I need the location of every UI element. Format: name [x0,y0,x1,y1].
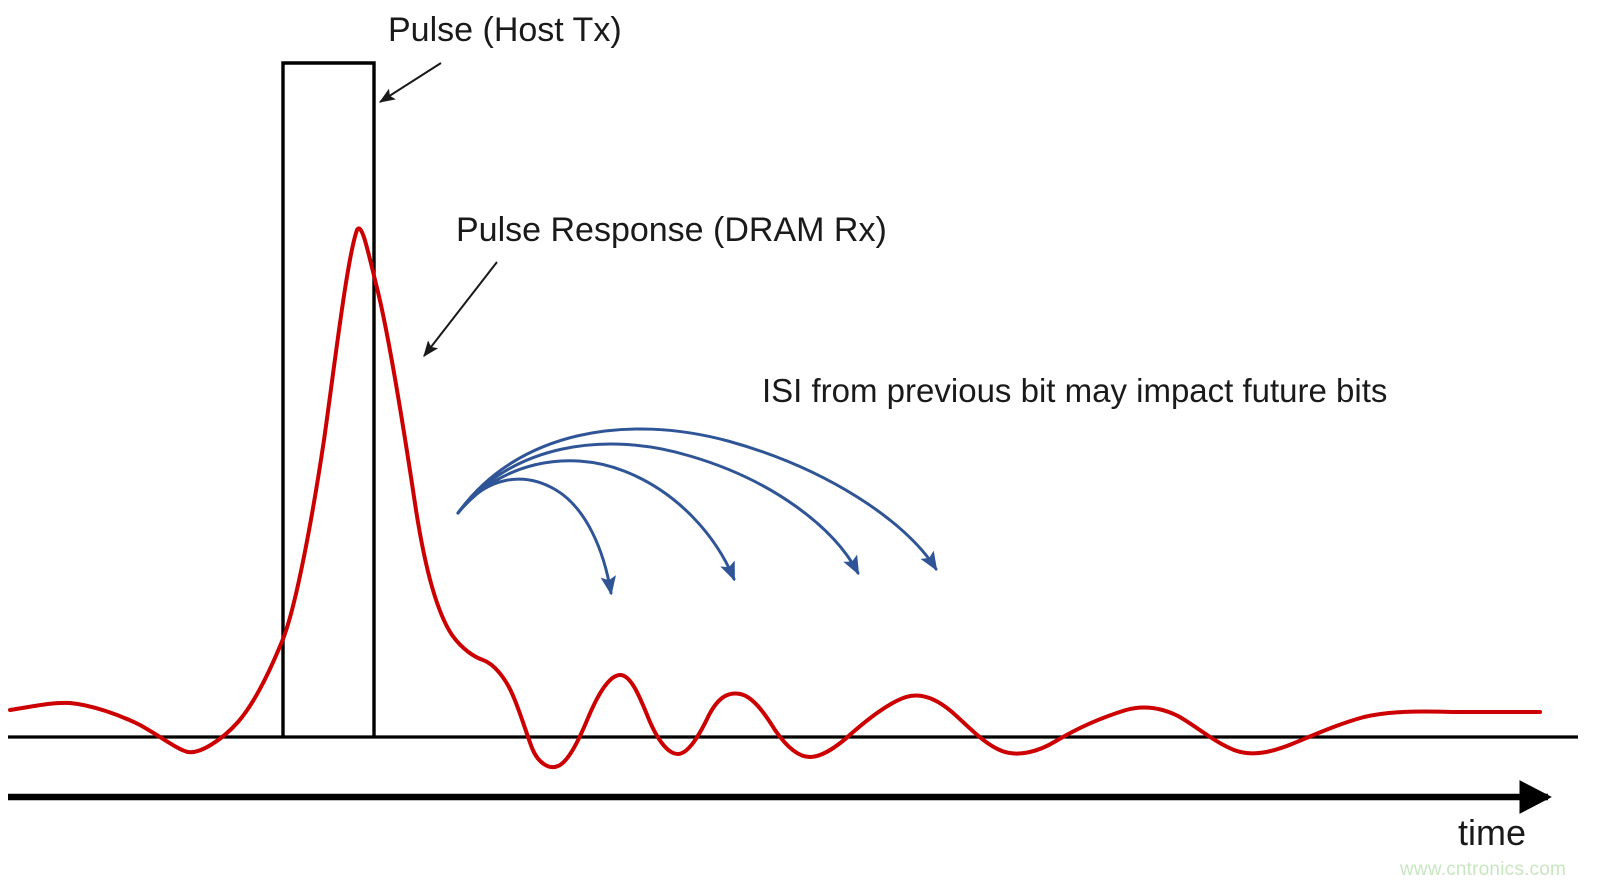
isi-arc-1 [458,479,611,593]
dram-rx-pulse-response-curve [10,228,1540,767]
time-axis-label: time [1458,813,1526,853]
isi-note-label: ISI from previous bit may impact future … [762,373,1387,409]
pulse-response-leader-line [424,262,497,356]
pulse-tx-leader-line [380,63,441,102]
pulse-tx-label: Pulse (Host Tx) [388,12,622,49]
pulse-response-plot [0,0,1601,895]
isi-arc-4 [458,429,936,569]
pulse-response-label: Pulse Response (DRAM Rx) [456,212,887,249]
isi-arc-3 [458,444,858,573]
site-watermark: www.cntronics.com [1400,860,1566,881]
isi-arc-2 [458,461,734,579]
diagram-canvas: Pulse (Host Tx) Pulse Response (DRAM Rx)… [0,0,1601,895]
